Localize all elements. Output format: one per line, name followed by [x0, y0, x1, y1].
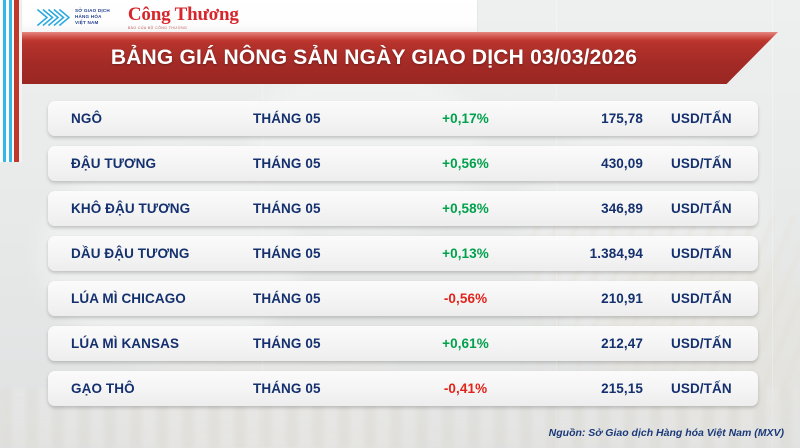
cell-month: THÁNG 05 [253, 291, 398, 306]
mxv-logo-text: SỞ GIAO DỊCH HÀNG HÓA VIỆT NAM [75, 8, 110, 27]
logo-bar: SỞ GIAO DỊCH HÀNG HÓA VIỆT NAM Công Thươ… [22, 0, 477, 34]
cell-commodity: GẠO THÔ [48, 381, 253, 396]
cell-price: 346,89 [533, 201, 643, 216]
cell-price: 1.384,94 [533, 246, 643, 261]
congthuong-subtitle: BÁO CỦA BỘ CÔNG THƯƠNG [128, 26, 239, 30]
cell-price: 430,09 [533, 156, 643, 171]
cell-unit: USD/TẤN [643, 201, 753, 216]
table-row[interactable]: LÚA MÌ KANSASTHÁNG 05+0,61%212,47USD/TẤN [48, 326, 758, 361]
page-title: BẢNG GIÁ NÔNG SẢN NGÀY GIAO DỊCH 03/03/2… [22, 32, 778, 84]
cell-change: +0,17% [398, 111, 533, 126]
cell-change: +0,61% [398, 336, 533, 351]
mxv-logo: SỞ GIAO DỊCH HÀNG HÓA VIỆT NAM [36, 8, 110, 27]
source-attribution: Nguồn: Sở Giao dịch Hàng hóa Việt Nam (M… [549, 427, 784, 439]
congthuong-logo: Công Thương BÁO CỦA BỘ CÔNG THƯƠNG [128, 5, 239, 30]
cell-commodity: KHÔ ĐẬU TƯƠNG [48, 201, 253, 216]
table-row[interactable]: ĐẬU TƯƠNGTHÁNG 05+0,56%430,09USD/TẤN [48, 146, 758, 181]
cell-commodity: NGÔ [48, 111, 253, 126]
mxv-line-3: VIỆT NAM [75, 20, 110, 26]
table-row[interactable]: LÚA MÌ CHICAGOTHÁNG 05-0,56%210,91USD/TẤ… [48, 281, 758, 316]
cell-unit: USD/TẤN [643, 246, 753, 261]
cell-commodity: ĐẬU TƯƠNG [48, 156, 253, 171]
cell-month: THÁNG 05 [253, 111, 398, 126]
mxv-chevron-mark [36, 8, 70, 27]
cell-change: +0,58% [398, 201, 533, 216]
brand-stripes [0, 0, 22, 162]
cell-change: +0,56% [398, 156, 533, 171]
infographic-canvas: SỞ GIAO DỊCH HÀNG HÓA VIỆT NAM Công Thươ… [0, 0, 800, 448]
table-row[interactable]: KHÔ ĐẬU TƯƠNGTHÁNG 05+0,58%346,89USD/TẤN [48, 191, 758, 226]
table-row[interactable]: GẠO THÔTHÁNG 05-0,41%215,15USD/TẤN [48, 371, 758, 406]
table-row[interactable]: DẦU ĐẬU TƯƠNGTHÁNG 05+0,13%1.384,94USD/T… [48, 236, 758, 271]
cell-price: 210,91 [533, 291, 643, 306]
cell-unit: USD/TẤN [643, 156, 753, 171]
cell-unit: USD/TẤN [643, 291, 753, 306]
price-table: NGÔTHÁNG 05+0,17%175,78USD/TẤNĐẬU TƯƠNGT… [48, 101, 758, 416]
cell-month: THÁNG 05 [253, 246, 398, 261]
cell-month: THÁNG 05 [253, 336, 398, 351]
table-row[interactable]: NGÔTHÁNG 05+0,17%175,78USD/TẤN [48, 101, 758, 136]
cell-commodity: DẦU ĐẬU TƯƠNG [48, 246, 253, 261]
cell-price: 215,15 [533, 381, 643, 396]
cell-month: THÁNG 05 [253, 201, 398, 216]
cell-change: +0,13% [398, 246, 533, 261]
congthuong-title: Công Thương [128, 5, 239, 24]
cell-month: THÁNG 05 [253, 381, 398, 396]
title-banner: BẢNG GIÁ NÔNG SẢN NGÀY GIAO DỊCH 03/03/2… [22, 32, 778, 84]
cell-price: 212,47 [533, 336, 643, 351]
cell-change: -0,41% [398, 381, 533, 396]
cell-change: -0,56% [398, 291, 533, 306]
cell-commodity: LÚA MÌ CHICAGO [48, 291, 253, 306]
cell-unit: USD/TẤN [643, 336, 753, 351]
cell-unit: USD/TẤN [643, 111, 753, 126]
mxv-line-1: SỞ GIAO DỊCH [75, 8, 110, 14]
cell-price: 175,78 [533, 111, 643, 126]
cell-month: THÁNG 05 [253, 156, 398, 171]
cell-unit: USD/TẤN [643, 381, 753, 396]
cell-commodity: LÚA MÌ KANSAS [48, 336, 253, 351]
